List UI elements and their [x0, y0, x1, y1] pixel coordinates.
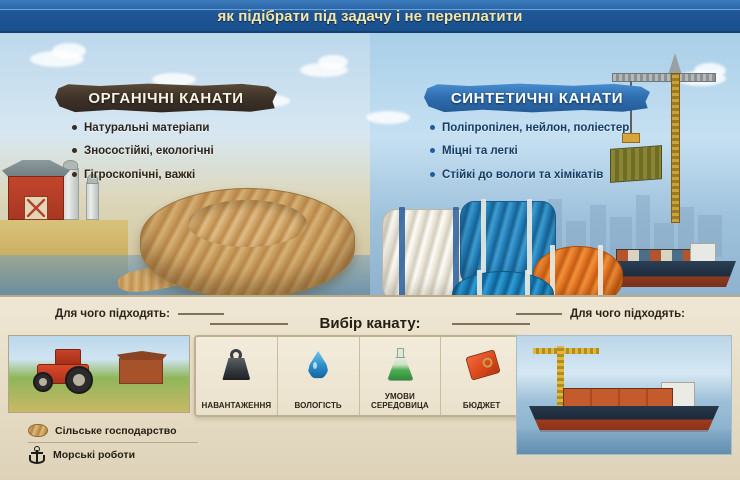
list-item: Сільське господарство: [28, 419, 198, 443]
organic-banner-label: ОРГАНІЧНІ КАНАТИ: [88, 90, 243, 107]
tractor-front-wheel: [33, 372, 53, 392]
bullet-dot-icon: [430, 172, 435, 177]
list-item: Морські роботи: [28, 443, 198, 467]
synthetic-bullet-list: Поліпропілен, нейлон, поліестер Міцні та…: [430, 121, 629, 191]
header-bar: як підібрати під задачу і не переплатити: [0, 0, 740, 33]
bullet-dot-icon: [72, 125, 77, 130]
main-illustration-scene: ОРГАНІЧНІ КАНАТИ СИНТЕТИЧНІ КАНАТИ Натур…: [0, 33, 740, 295]
list-item: Поліпропілен, нейлон, поліестер: [430, 121, 629, 135]
barn-door: [24, 196, 48, 220]
criteria-card-load[interactable]: НАВАНТАЖЕННЯ: [196, 337, 278, 415]
criteria-card-humidity[interactable]: ВОЛОГІСТЬ: [278, 337, 360, 415]
synthetic-bullet-1: Міцні та легкі: [442, 144, 518, 158]
synthetic-bullet-2: Стійкі до вологи та хімікатів: [442, 168, 603, 182]
synthetic-ropes-banner: СИНТЕТИЧНІ КАНАТИ: [424, 83, 650, 113]
synthetic-banner-label: СИНТЕТИЧНІ КАНАТИ: [451, 90, 623, 107]
criteria-label-humidity: ВОЛОГІСТЬ: [278, 401, 359, 410]
tractor-illustration: [8, 335, 190, 413]
organic-bullet-list: Натуральні матеріапи Зносостійкі, еколог…: [72, 121, 214, 191]
crane-jib: [612, 73, 716, 82]
criteria-card-budget[interactable]: БЮДЖЕТ: [441, 337, 522, 415]
organic-bullet-1: Зносостійкі, екологічні: [84, 144, 214, 158]
criteria-card-environment[interactable]: УМОВИ СЕРЕДОВИЦА: [360, 337, 442, 415]
anchor-icon: [28, 446, 46, 464]
rope-coil-icon: [28, 424, 48, 437]
bullet-dot-icon: [72, 172, 77, 177]
organic-ropes-banner: ОРГАНІЧНІ КАНАТИ: [55, 83, 277, 113]
list-item: Стійкі до вологи та хімікатів: [430, 168, 629, 182]
choice-title: Вибір канату:: [0, 315, 740, 332]
synthetic-bullet-0: Поліпропілен, нейлон, поліестер: [442, 121, 629, 135]
sea-water: [517, 430, 731, 454]
tractor-rear-wheel: [65, 366, 93, 394]
criteria-label-budget: БЮДЖЕТ: [441, 401, 522, 410]
crane-mast: [671, 73, 680, 223]
criteria-label-environment: УМОВИ СЕРЕДОВИЦА: [360, 392, 441, 410]
weight-icon: [215, 344, 257, 386]
bullet-dot-icon: [72, 148, 77, 153]
natural-rope-coil: [140, 188, 355, 295]
infographic-poster: як підібрати під задачу і не переплатити: [0, 0, 740, 480]
water-drop-icon: [297, 344, 339, 386]
flask-icon: [379, 344, 421, 386]
organic-use-list: Сільське господарство Морські роботи: [28, 419, 198, 467]
ship-hull: [529, 406, 719, 432]
list-item: Зносостійкі, екологічні: [72, 144, 214, 158]
list-item: Натуральні матеріапи: [72, 121, 214, 135]
crane-apex: [668, 53, 682, 75]
criteria-label-load: НАВАНТАЖЕННЯ: [196, 401, 277, 410]
use-case-label-1: Морські роботи: [53, 449, 135, 461]
use-case-label-0: Сільське господарство: [55, 425, 177, 437]
center-divider-right: [452, 323, 530, 325]
organic-bullet-2: Гігроскопічні, важкі: [84, 168, 195, 182]
ship-superstructure: [690, 243, 716, 263]
bullet-dot-icon: [430, 148, 435, 153]
list-item: Гігроскопічні, важкі: [72, 168, 214, 182]
list-item: Міцні та легкі: [430, 144, 629, 158]
farm-building: [119, 358, 163, 384]
bottom-panel: Для чого підходять: Для чого підходять: …: [0, 295, 740, 480]
port-crane-jib: [533, 348, 599, 354]
ship-containers: [563, 388, 673, 408]
price-tag-icon: [461, 344, 503, 386]
header-subtitle: як підібрати під задачу і не переплатити: [0, 8, 740, 25]
rope-choice-criteria-panel: НАВАНТАЖЕННЯ ВОЛОГІСТЬ УМОВИ СЕРЕДОВИЦА: [194, 335, 524, 417]
bullet-dot-icon: [430, 125, 435, 130]
organic-bullet-0: Натуральні матеріапи: [84, 121, 209, 135]
cargo-ship-photo: [516, 335, 732, 455]
